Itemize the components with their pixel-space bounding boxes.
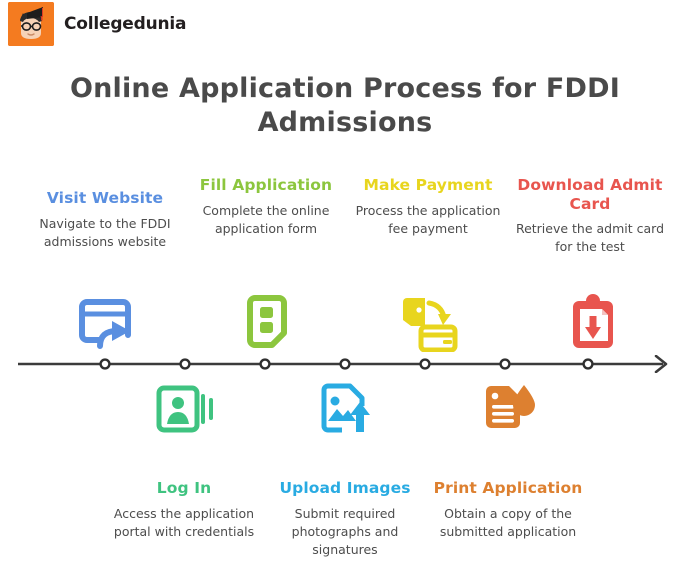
clipboard-download-icon [558,292,628,354]
brand-header: Collegedunia [8,2,186,46]
page-title-line-1: Online Application Process for FDDI [60,72,630,106]
step-description: Obtain a copy of the submitted applicati… [428,505,588,541]
step-print-application: Print Application Obtain a copy of the s… [428,479,588,541]
step-heading: Print Application [428,479,588,498]
step-description: Complete the online application form [186,202,346,238]
step-heading: Visit Website [25,189,185,208]
step-make-payment: Make Payment Process the application fee… [348,176,508,238]
step-heading: Upload Images [265,479,425,498]
form-document-icon [232,292,302,354]
step-heading: Log In [104,479,264,498]
step-visit-website: Visit Website Navigate to the FDDI admis… [25,189,185,251]
browser-window-share-icon [70,292,140,354]
page-title: Online Application Process for FDDI Admi… [60,72,630,140]
step-heading: Make Payment [348,176,508,195]
wallet-card-payment-icon [392,292,462,354]
image-upload-icon [312,378,382,440]
graduate-avatar-icon [8,2,54,46]
page-title-line-2: Admissions [60,106,630,140]
step-heading: Download Admit Card [510,176,670,213]
id-card-profile-icon [152,378,222,440]
step-description: Access the application portal with crede… [104,505,264,541]
step-download-admit-card: Download Admit Card Retrieve the admit c… [510,176,670,256]
step-description: Retrieve the admit card for the test [510,220,670,256]
step-description: Process the application fee payment [348,202,508,238]
step-log-in: Log In Access the application portal wit… [104,479,264,541]
step-upload-images: Upload Images Submit required photograph… [265,479,425,559]
brand-name: Collegedunia [64,14,186,34]
document-ink-print-icon [474,378,544,440]
step-heading: Fill Application [186,176,346,195]
step-description: Navigate to the FDDI admissions website [25,215,185,251]
timeline-axis [18,355,678,373]
infographic-page: Collegedunia Online Application Process … [0,0,690,588]
step-description: Submit required photographs and signatur… [265,505,425,559]
step-fill-application: Fill Application Complete the online app… [186,176,346,238]
